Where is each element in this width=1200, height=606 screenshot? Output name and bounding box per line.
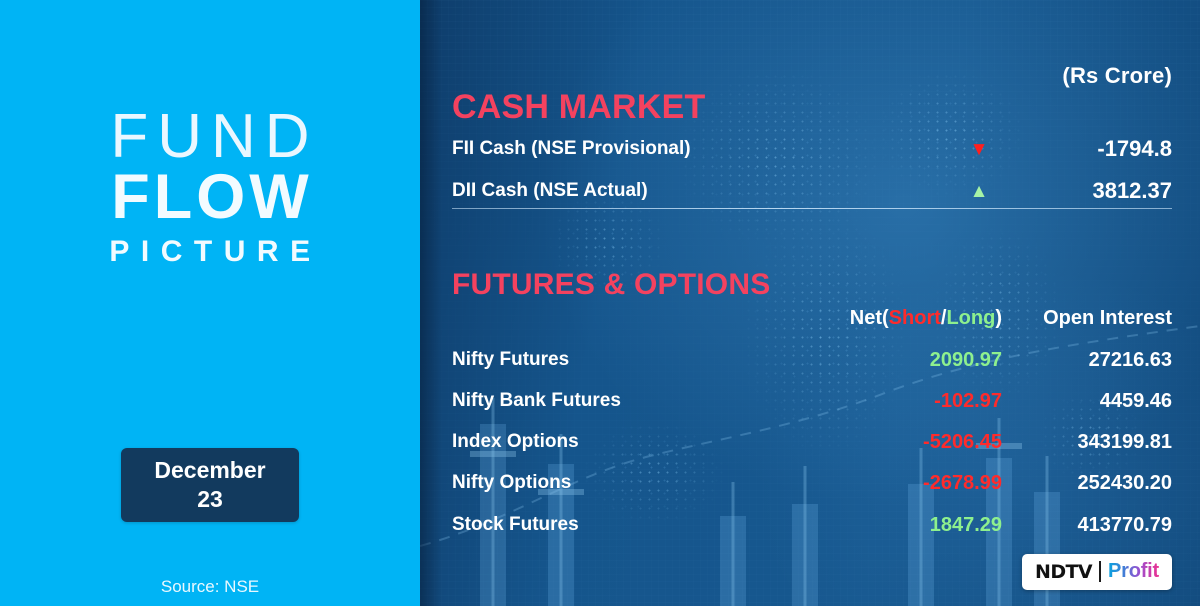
date-day: 23 [197, 485, 223, 514]
net-suffix: ) [995, 307, 1002, 329]
table-row: Index Options -5206.45 343199.81 [452, 428, 1172, 456]
column-header-open-interest: Open Interest [1002, 307, 1172, 330]
brand-line-flow: FLOW [0, 165, 420, 229]
section-title-cash-market: CASH MARKET [452, 88, 705, 127]
brand-title: FUND FLOW PICTURE [0, 108, 420, 274]
fno-row-net: 2090.97 [820, 349, 1002, 372]
logo-brand-text: NDTV [1035, 561, 1092, 583]
brand-line-picture: PICTURE [0, 229, 420, 274]
table-row: Stock Futures 1847.29 413770.79 [452, 511, 1172, 539]
fno-row-open-interest: 4459.46 [1002, 390, 1172, 413]
logo-product-text: Profit [1108, 560, 1159, 583]
net-short-label: Short [889, 307, 941, 329]
fno-row-label: Stock Futures [452, 514, 820, 536]
fno-row-label: Nifty Bank Futures [452, 390, 820, 412]
column-headers: Net(Short/Long) Open Interest [452, 307, 1172, 330]
net-prefix: Net( [850, 307, 889, 329]
cash-row-label: DII Cash (NSE Actual) [452, 180, 956, 202]
fno-row-net: -102.97 [820, 390, 1002, 413]
date-month: December [154, 456, 265, 485]
net-long-label: Long [946, 307, 995, 329]
brand-line-fund: FUND [0, 108, 420, 165]
fno-row-label: Nifty Options [452, 472, 820, 494]
logo-divider-bar [1099, 561, 1101, 582]
unit-label: (Rs Crore) [1062, 63, 1172, 89]
fno-row-label: Index Options [452, 431, 820, 453]
fno-row-net: -5206.45 [820, 431, 1002, 454]
cash-row-label: FII Cash (NSE Provisional) [452, 138, 956, 160]
left-title-panel: FUND FLOW PICTURE December 23 Source: NS… [0, 0, 420, 606]
cash-row-value: -1794.8 [1002, 136, 1172, 162]
ndtv-profit-logo: NDTV Profit [1022, 554, 1172, 590]
fno-row-label: Nifty Futures [452, 349, 820, 371]
fno-row-net: 1847.29 [820, 514, 1002, 537]
source-label: Source: NSE [0, 577, 420, 597]
fno-row-open-interest: 27216.63 [1002, 349, 1172, 372]
fno-row-open-interest: 252430.20 [1002, 472, 1172, 495]
trend-up-icon: ▲ [956, 182, 1002, 201]
section-title-futures-options: FUTURES & OPTIONS [452, 268, 770, 302]
fno-row-open-interest: 413770.79 [1002, 514, 1172, 537]
section-divider [452, 208, 1172, 209]
cash-row-dii: DII Cash (NSE Actual) ▲ 3812.37 [452, 176, 1172, 206]
infographic-canvas: FUND FLOW PICTURE December 23 Source: NS… [0, 0, 1200, 606]
right-data-panel: (Rs Crore) CASH MARKET FII Cash (NSE Pro… [420, 0, 1200, 606]
cash-row-value: 3812.37 [1002, 178, 1172, 204]
table-row: Nifty Futures 2090.97 27216.63 [452, 346, 1172, 374]
cash-row-fii: FII Cash (NSE Provisional) ▼ -1794.8 [452, 134, 1172, 164]
fno-row-net: -2678.99 [820, 472, 1002, 495]
fno-row-open-interest: 343199.81 [1002, 431, 1172, 454]
table-row: Nifty Bank Futures -102.97 4459.46 [452, 387, 1172, 415]
column-header-net: Net(Short/Long) [820, 307, 1002, 330]
date-badge: December 23 [121, 448, 299, 522]
table-row: Nifty Options -2678.99 252430.20 [452, 469, 1172, 497]
trend-down-icon: ▼ [956, 140, 1002, 159]
